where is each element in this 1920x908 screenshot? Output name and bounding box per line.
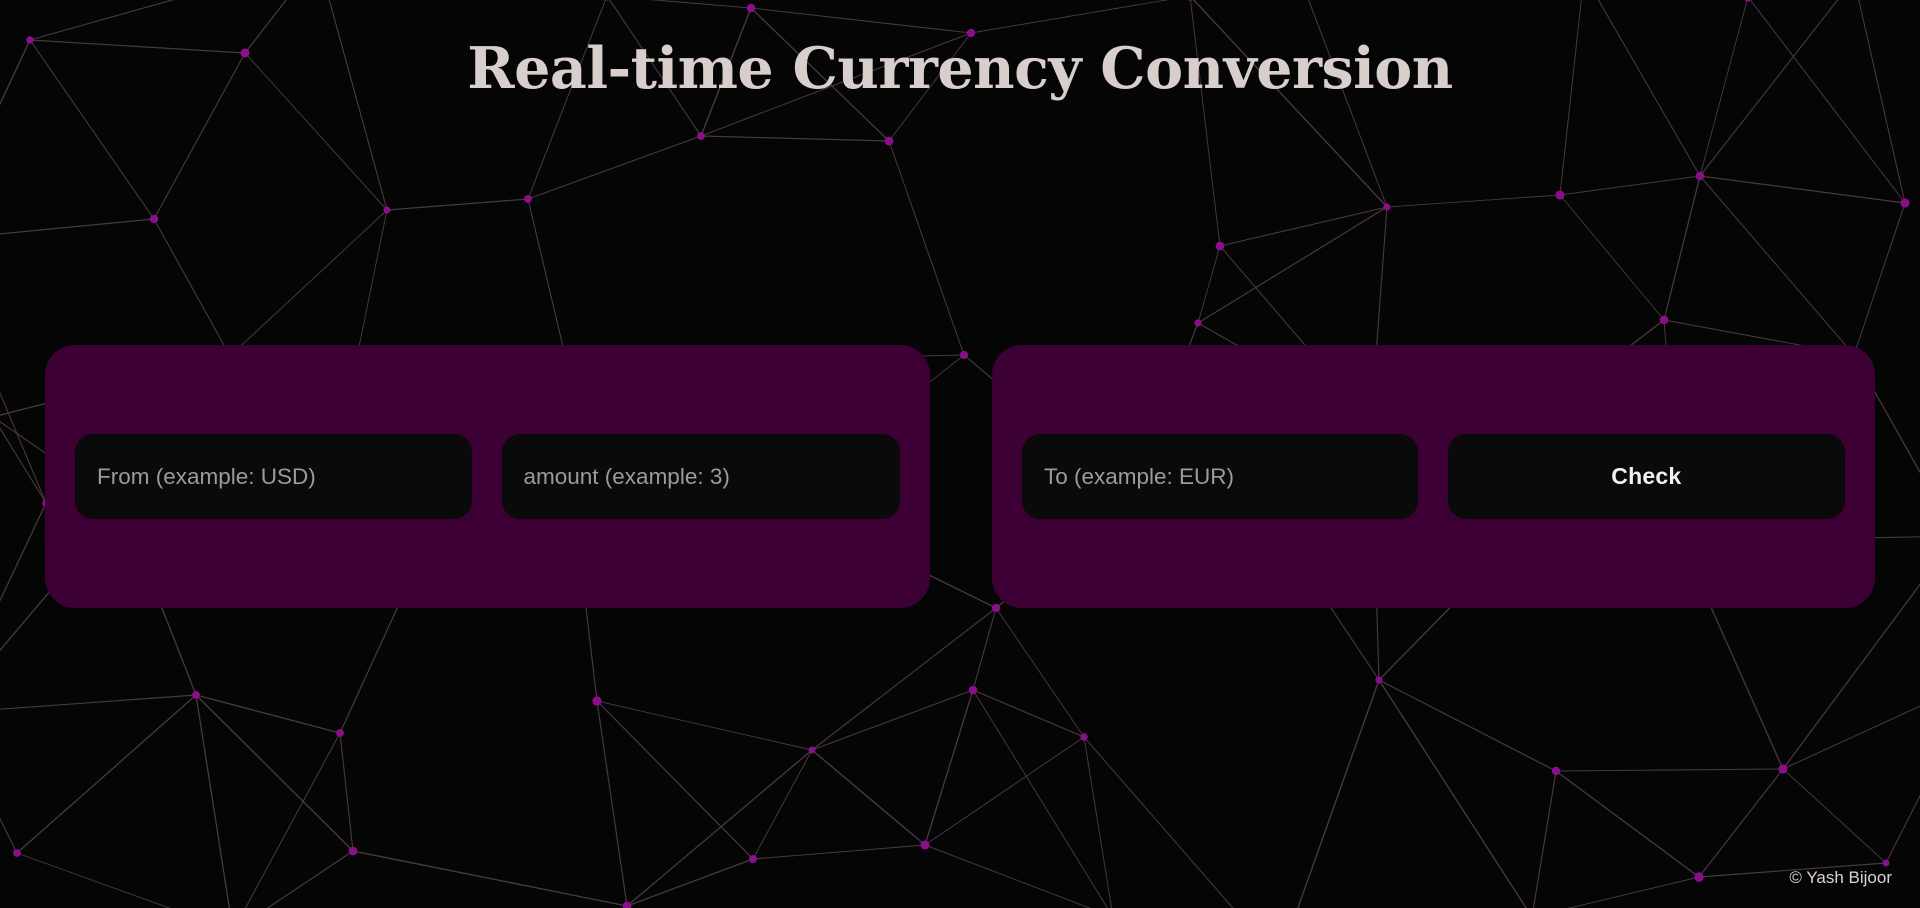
from-currency-input[interactable] (75, 434, 472, 519)
converter-panel-target: Check (992, 345, 1875, 608)
to-currency-input[interactable] (1022, 434, 1418, 519)
check-button[interactable]: Check (1448, 434, 1845, 519)
page-root: Real-time Currency Conversion Check © Ya… (0, 0, 1920, 908)
converter-card-row: Check (45, 345, 1875, 608)
page-title: Real-time Currency Conversion (0, 36, 1920, 102)
copyright-credit: © Yash Bijoor (1789, 868, 1892, 888)
converter-panel-source (45, 345, 930, 608)
amount-input[interactable] (502, 434, 901, 519)
